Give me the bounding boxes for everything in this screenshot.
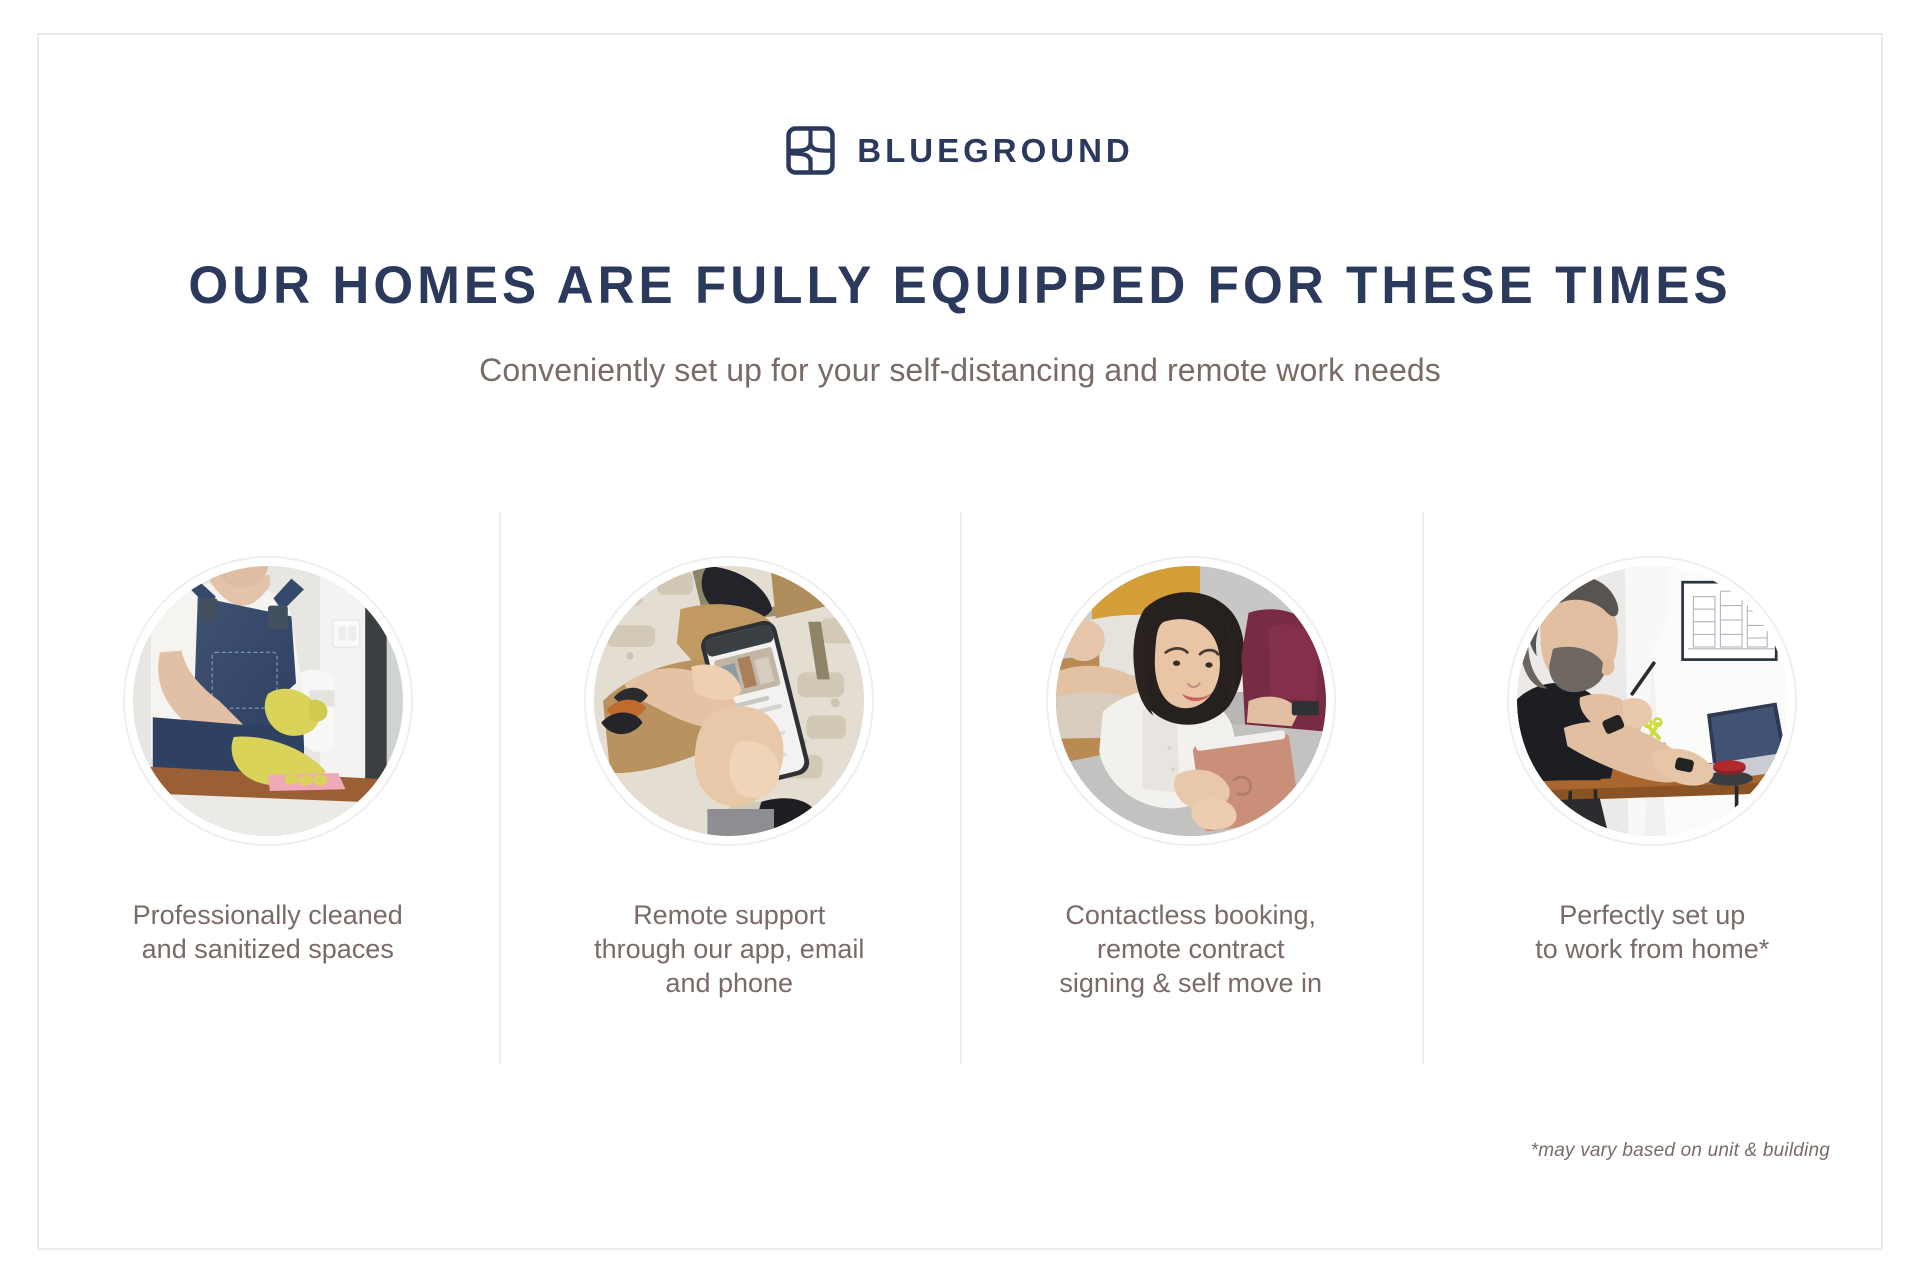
feature-caption: Professionally cleaned and sanitized spa…: [133, 898, 403, 966]
feature-caption: Contactless booking, remote contract sig…: [1059, 898, 1322, 1000]
feature-column-work-from-home: Perfectly set up to work from home*: [1422, 512, 1884, 1064]
feature-caption: Remote support through our app, email an…: [594, 898, 864, 1000]
photo-ring: [1507, 556, 1797, 846]
feature-columns: Professionally cleaned and sanitized spa…: [37, 512, 1883, 1064]
photo-cleaning-sanitizing: [133, 566, 403, 836]
feature-column-cleaning: Professionally cleaned and sanitized spa…: [37, 512, 499, 1064]
blueground-square-logo-icon: [786, 126, 835, 175]
footnote-disclaimer: *may vary based on unit & building: [1531, 1140, 1830, 1162]
brand-wordmark: BLUEGROUND: [857, 134, 1134, 167]
feature-column-remote-support: Remote support through our app, email an…: [499, 512, 961, 1064]
photo-ring: [1046, 556, 1336, 846]
brand-logo: BLUEGROUND: [0, 126, 1920, 175]
feature-column-contactless-booking: Contactless booking, remote contract sig…: [960, 512, 1422, 1064]
photo-ring: [584, 556, 874, 846]
page-title: OUR HOMES ARE FULLY EQUIPPED FOR THESE T…: [34, 258, 1887, 314]
promo-page: BLUEGROUND OUR HOMES ARE FULLY EQUIPPED …: [0, 0, 1920, 1280]
photo-work-from-home-desk: [1517, 566, 1787, 836]
feature-caption: Perfectly set up to work from home*: [1535, 898, 1769, 966]
photo-ring: [123, 556, 413, 846]
photo-contactless-booking-tablet: [1056, 566, 1326, 836]
page-subtitle: Conveniently set up for your self-distan…: [0, 350, 1920, 392]
photo-remote-support-phone: [594, 566, 864, 836]
